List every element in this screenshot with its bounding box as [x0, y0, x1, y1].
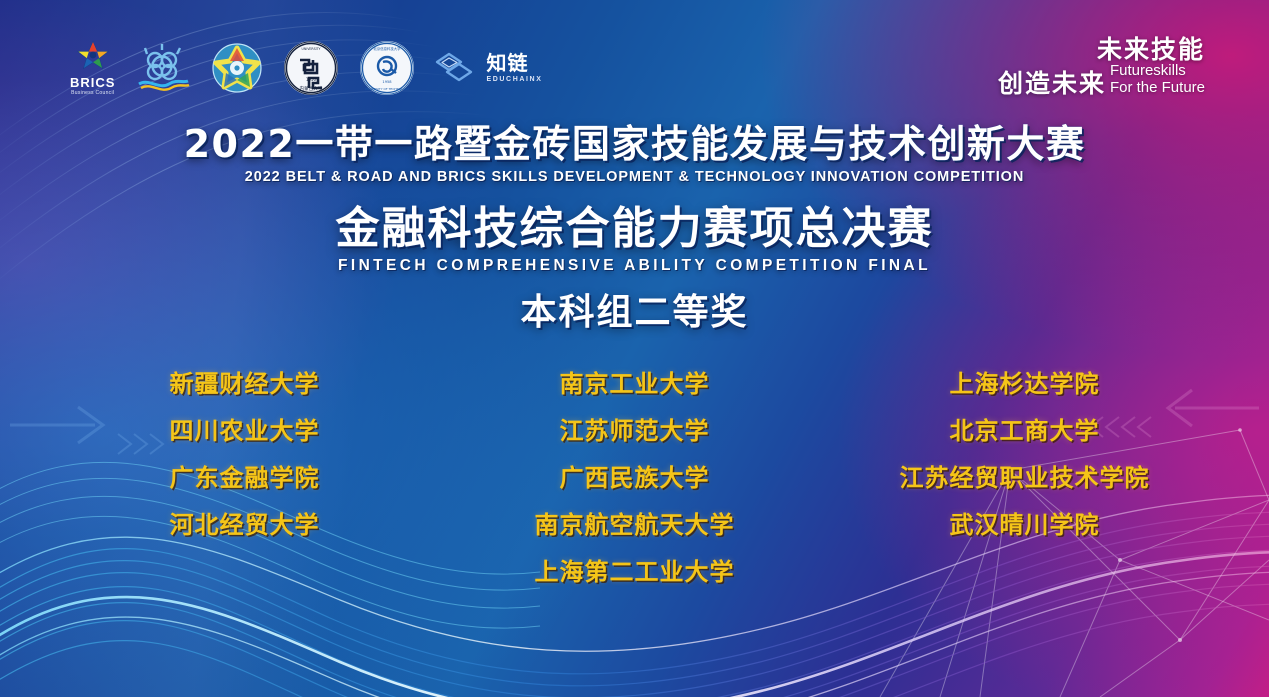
logo-brics-business-council: BRICS Business Council — [70, 40, 115, 96]
slogan-cn-line2: 创造未来 — [998, 70, 1106, 97]
logo-colorful-star-circle — [211, 42, 263, 94]
winner-name: 广西民族大学 — [440, 466, 830, 513]
title-block: 2022一带一路暨金砖国家技能发展与技术创新大赛 2022 BELT & ROA… — [0, 124, 1269, 333]
logo-blue-university-seal: 北京信息科技大学 1958 UNIVERSITY OF TECHNOLOGY — [359, 40, 415, 96]
educhainx-chain-icon — [435, 48, 479, 88]
educhainx-label: 知链 — [486, 54, 542, 74]
svg-text:1950: 1950 — [306, 77, 317, 82]
colorful-star-circle-icon — [211, 42, 263, 94]
logo-knot-emblem — [135, 40, 191, 96]
main-title-en: 2022 BELT & ROAD AND BRICS SKILLS DEVELO… — [0, 169, 1269, 185]
event-title-cn: 金融科技综合能力赛项总决赛 — [0, 205, 1269, 253]
brics-label: BRICS — [70, 76, 115, 89]
winner-name: 广东金融学院 — [50, 466, 440, 513]
winner-column-1: 新疆财经大学 四川农业大学 广东金融学院 河北经贸大学 — [50, 372, 440, 607]
slogan-cn-line1: 未来技能 — [1097, 36, 1205, 63]
winner-name: 上海第二工业大学 — [440, 560, 830, 607]
winner-list: 新疆财经大学 四川农业大学 广东金融学院 河北经贸大学 南京工业大学 江苏师范大… — [0, 372, 1269, 607]
black-white-seal-icon: 1950 内蒙古大学 UNIVERSITY — [283, 40, 339, 96]
winner-name: 四川农业大学 — [50, 419, 440, 466]
brics-sublabel: Business Council — [71, 91, 114, 96]
logo-black-white-seal: 1950 内蒙古大学 UNIVERSITY — [283, 40, 339, 96]
knot-emblem-icon — [135, 40, 191, 96]
main-title-cn: 2022一带一路暨金砖国家技能发展与技术创新大赛 — [0, 124, 1269, 165]
winner-name: 上海杉达学院 — [830, 372, 1220, 419]
blue-university-seal-icon: 北京信息科技大学 1958 UNIVERSITY OF TECHNOLOGY — [359, 40, 415, 96]
svg-text:UNIVERSITY: UNIVERSITY — [302, 47, 321, 51]
slogan-row-2: 创造未来 Futureskills For the Future — [998, 63, 1205, 97]
winner-name: 新疆财经大学 — [50, 372, 440, 419]
winner-name: 河北经贸大学 — [50, 513, 440, 560]
brics-star-icon — [73, 40, 113, 74]
winner-name: 江苏师范大学 — [440, 419, 830, 466]
event-title-en: FINTECH COMPREHENSIVE ABILITY COMPETITIO… — [0, 257, 1269, 275]
logo-educhainx: 知链 EDUCHAINX — [435, 48, 542, 88]
slogan-en-line1: Futureskills — [1110, 63, 1205, 80]
educhainx-sublabel: EDUCHAINX — [486, 76, 542, 83]
slogan-en-line2: For the Future — [1110, 80, 1205, 97]
svg-text:内蒙古大学: 内蒙古大学 — [300, 85, 323, 92]
slogan-block: 未来技能 创造未来 Futureskills For the Future — [998, 36, 1205, 97]
winner-name: 南京航空航天大学 — [440, 513, 830, 560]
winner-column-3: 上海杉达学院 北京工商大学 江苏经贸职业技术学院 武汉晴川学院 — [830, 372, 1220, 607]
winner-name: 江苏经贸职业技术学院 — [830, 466, 1220, 513]
svg-text:UNIVERSITY OF TECHNOLOGY: UNIVERSITY OF TECHNOLOGY — [365, 87, 410, 91]
winner-name: 北京工商大学 — [830, 419, 1220, 466]
winner-column-2: 南京工业大学 江苏师范大学 广西民族大学 南京航空航天大学 上海第二工业大学 — [440, 372, 830, 607]
winner-name: 武汉晴川学院 — [830, 513, 1220, 560]
award-category: 本科组二等奖 — [0, 293, 1269, 333]
logo-bar: BRICS Business Council — [70, 36, 542, 100]
award-banner: BRICS Business Council — [0, 0, 1269, 697]
svg-text:1958: 1958 — [383, 80, 393, 84]
winner-name: 南京工业大学 — [440, 372, 830, 419]
slogan-row-1: 未来技能 — [998, 36, 1205, 63]
svg-text:北京信息科技大学: 北京信息科技大学 — [374, 46, 402, 51]
